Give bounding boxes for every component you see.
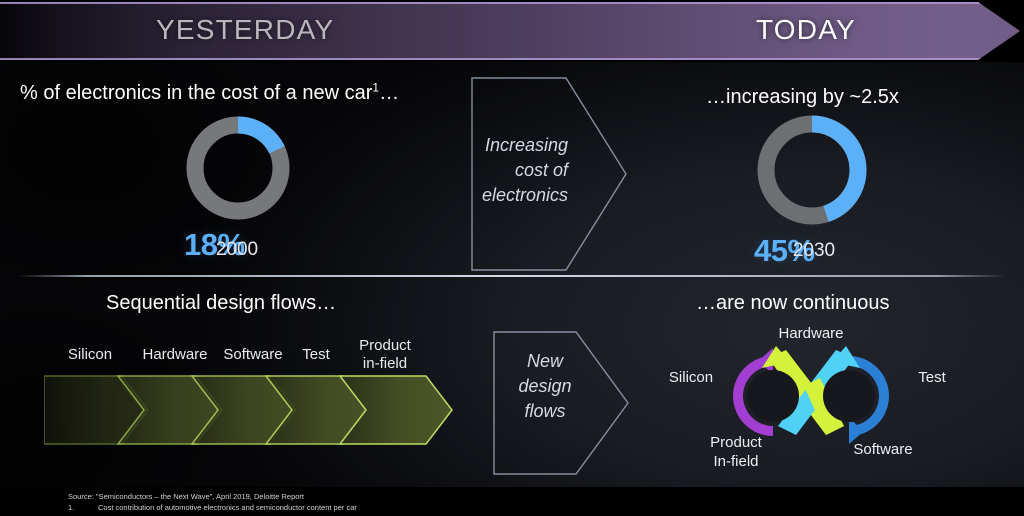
top-left-title: % of electronics in the cost of a new ca…	[20, 80, 399, 106]
donut-2000-svg	[184, 114, 292, 222]
header-banner	[0, 2, 1024, 60]
footnote: Source: "Semiconductors – the Next Wave"…	[68, 491, 688, 513]
connector-label-top: Increasing cost of electronics	[466, 133, 568, 208]
bottom-right-title: …are now continuous	[696, 290, 889, 316]
top-left-title-text: % of electronics in the cost of a new ca…	[20, 82, 372, 104]
footnote-note-text: Cost contribution of automotive electron…	[98, 502, 357, 513]
bottom-left-title: Sequential design flows…	[106, 290, 336, 316]
footnote-source: Source: "Semiconductors – the Next Wave"…	[68, 491, 688, 502]
loop-label-product-line1: Product	[700, 433, 772, 452]
donut-chart-2030: 45%	[754, 112, 870, 309]
donut-2030-caption: 2030	[734, 240, 894, 262]
loop-label-silicon: Silicon	[658, 368, 724, 387]
loop-hole-right	[823, 370, 875, 422]
flow-arrow-chain-svg	[44, 374, 456, 446]
connector-label-bottom-line3: flows	[508, 399, 582, 424]
connector-label-top-line2: cost of	[466, 158, 568, 183]
donut-2000-center: 18%	[184, 227, 254, 297]
flow-label-software: Software	[212, 346, 294, 364]
loop-label-product-infield: Product In-field	[700, 433, 772, 471]
loop-hole-left	[747, 370, 799, 422]
loop-label-product-line2: In-field	[700, 452, 772, 471]
footnote-note-number: 1.	[68, 502, 98, 513]
loop-label-test: Test	[908, 368, 956, 387]
flow-label-hardware: Hardware	[133, 346, 217, 364]
loop-label-hardware: Hardware	[768, 324, 854, 343]
header-label-today: TODAY	[756, 13, 856, 47]
connector-label-bottom-line2: design	[508, 374, 582, 399]
flow-label-product-line2: in-field	[348, 355, 422, 373]
top-left-title-suffix: …	[379, 82, 399, 104]
header-label-yesterday: YESTERDAY	[156, 13, 334, 47]
loop-label-software: Software	[845, 440, 921, 459]
flow-label-test: Test	[290, 346, 342, 364]
connector-label-top-line3: electronics	[466, 183, 568, 208]
connector-label-top-line1: Increasing	[466, 133, 568, 158]
flow-step-labels: Silicon Hardware Software Test Product i…	[0, 336, 470, 376]
flow-arrow-chain	[44, 374, 456, 446]
connector-label-bottom: New design flows	[508, 349, 582, 424]
flow-label-product-infield: Product in-field	[348, 337, 422, 373]
donut-2030-svg	[754, 112, 870, 228]
connector-label-bottom-line1: New	[508, 349, 582, 374]
flow-label-product-line1: Product	[348, 337, 422, 355]
slide-canvas: YESTERDAY TODAY % of electronics in the …	[0, 0, 1024, 516]
flow-label-silicon: Silicon	[50, 346, 130, 364]
top-right-title: …increasing by ~2.5x	[706, 84, 899, 110]
donut-2000-caption: 2000	[157, 239, 317, 261]
donut-chart-2000: 18%	[184, 114, 292, 297]
footnote-note: 1. Cost contribution of automotive elect…	[68, 502, 688, 513]
